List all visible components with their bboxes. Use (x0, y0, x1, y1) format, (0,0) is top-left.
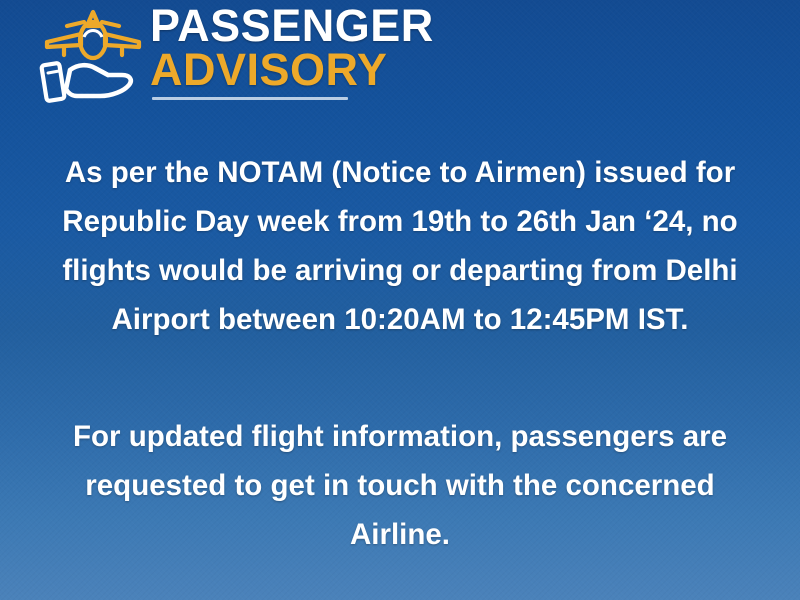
advisory-text-line: For updated flight information, passenge… (22, 412, 778, 461)
banner-title-secondary: ADVISORY (150, 48, 434, 92)
notam-notice-paragraph: As per the NOTAM (Notice to Airmen) issu… (22, 148, 778, 344)
advisory-body: As per the NOTAM (Notice to Airmen) issu… (22, 148, 778, 559)
title-underline-divider (152, 97, 348, 100)
advisory-text-line: flights would be arriving or departing f… (22, 246, 778, 295)
advisory-text-line: Airline. (22, 510, 778, 559)
banner-header: PASSENGER ADVISORY (34, 2, 434, 104)
advisory-text-line: Republic Day week from 19th to 26th Jan … (22, 197, 778, 246)
passenger-advisory-banner: PASSENGER ADVISORY As per the NOTAM (Not… (0, 0, 800, 600)
airplane-in-hand-icon (34, 4, 146, 104)
advisory-text-line: As per the NOTAM (Notice to Airmen) issu… (22, 148, 778, 197)
contact-airline-paragraph: For updated flight information, passenge… (22, 412, 778, 559)
advisory-text-line: Airport between 10:20AM to 12:45PM IST. (22, 295, 778, 344)
advisory-text-line: requested to get in touch with the conce… (22, 461, 778, 510)
banner-title-group: PASSENGER ADVISORY (150, 4, 434, 100)
banner-title-primary: PASSENGER (150, 4, 434, 48)
